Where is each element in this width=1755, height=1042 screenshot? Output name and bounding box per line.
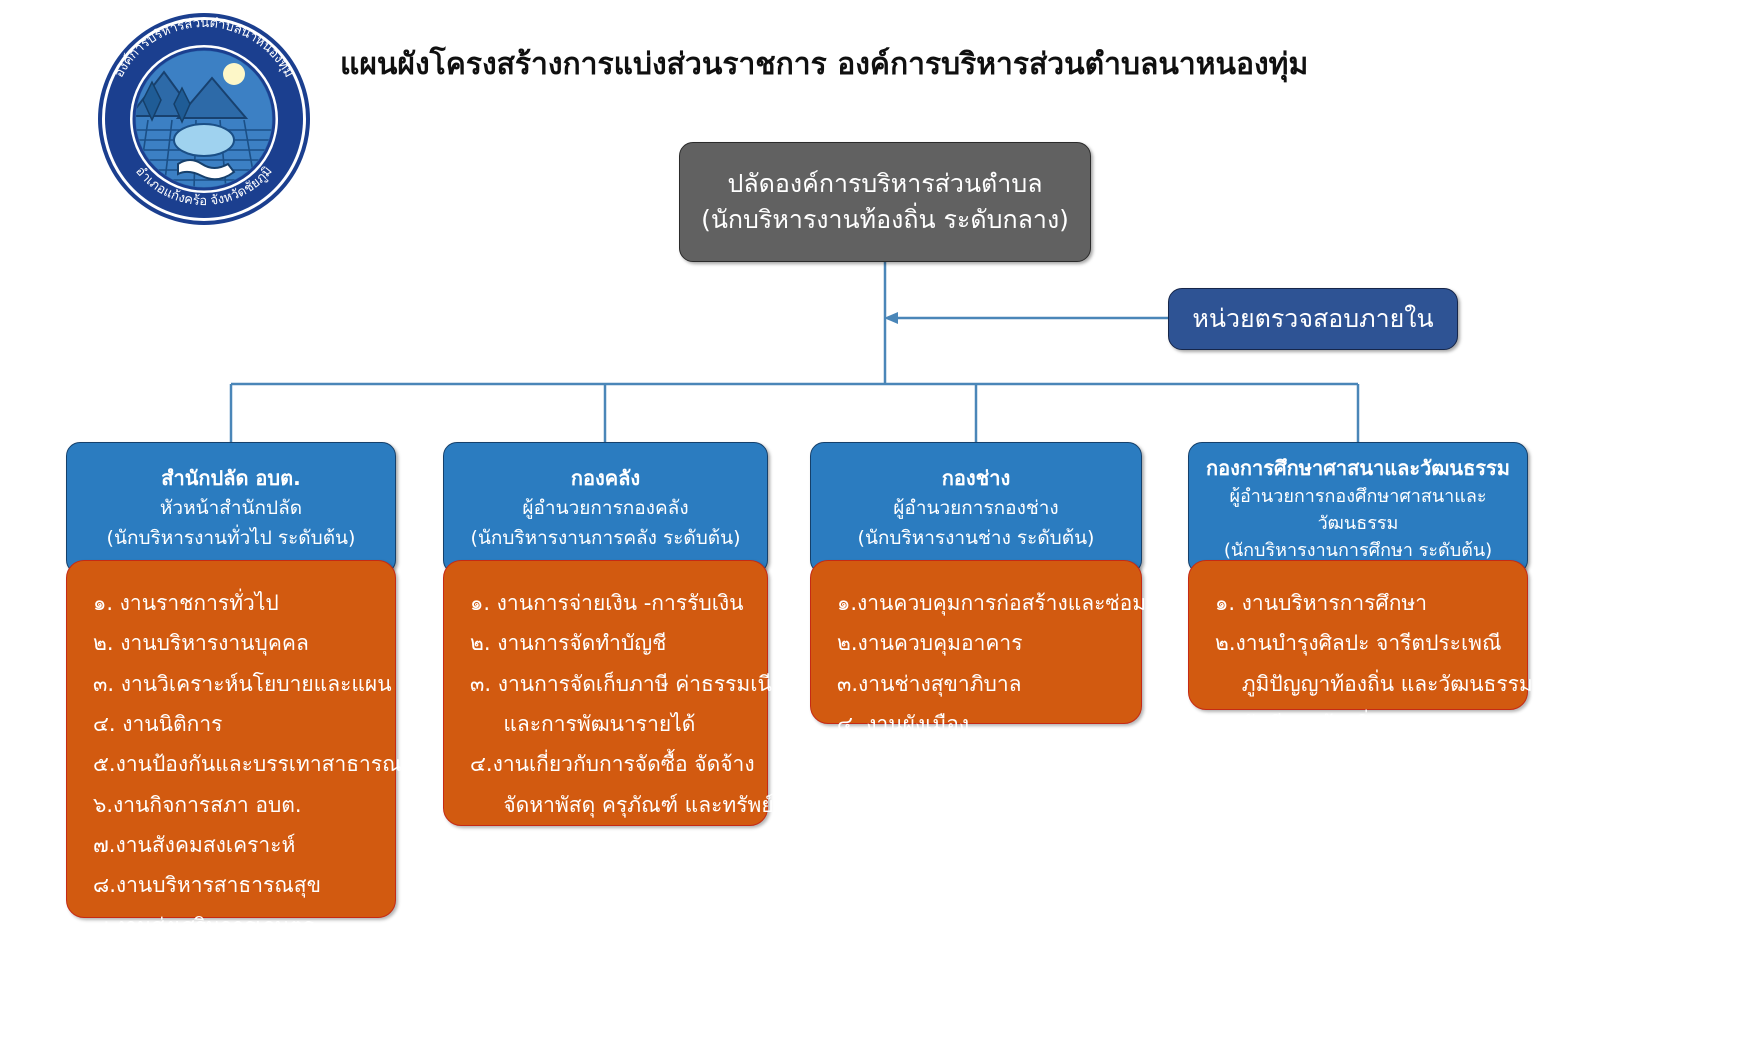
task-item: ๕.งานป้องกันและบรรเทาสาธารณภัย	[93, 744, 379, 784]
task-item: อันดีของท้องถิ่น	[1215, 704, 1511, 744]
department-name: กองช่าง	[819, 463, 1133, 494]
task-item: ๔. งานผังเมือง	[837, 704, 1125, 744]
task-item: ๓.งานช่างสุขาภิบาล	[837, 664, 1125, 704]
task-item: ต่างๆ	[470, 825, 751, 865]
task-item: ๑๐.งานวิชาการปศุสัตว์	[93, 946, 379, 986]
task-item: ๘.งานบริหารสาธารณสุข	[93, 865, 379, 905]
task-item: ภูมิปัญญาท้องถิ่น และวัฒนธรรม	[1215, 664, 1511, 704]
task-list-public-works[interactable]: ๑.งานควบคุมการก่อสร้างและซ่อมบำรุง๒.งานค…	[810, 560, 1142, 724]
task-item: ๑. งานการจ่ายเงิน -การรับเงิน	[470, 583, 751, 623]
box-department-finance[interactable]: กองคลัง ผู้อำนวยการกองคลัง (นักบริหารงาน…	[443, 442, 768, 574]
task-item: จัดหาพัสดุ ครุภัณฑ์ และทรัพย์สิน	[470, 785, 751, 825]
task-item: ๑.งานควบคุมการก่อสร้างและซ่อมบำรุง	[837, 583, 1125, 623]
box-department-education[interactable]: กองการศึกษาศาสนาและวัฒนธรรม ผู้อำนวยการก…	[1188, 442, 1528, 574]
task-item: ๑. งานบริหารการศึกษา	[1215, 583, 1511, 623]
chief-administrator-title: ปลัดองค์การบริหารส่วนตำบล	[680, 166, 1090, 202]
task-item: ๒. งานการจัดทำบัญชี	[470, 623, 751, 663]
department-head: ผู้อำนวยการกองช่าง	[819, 494, 1133, 523]
task-item: ๑. งานราชการทั่วไป	[93, 583, 379, 623]
task-item: ๓. งานวิเคราะห์นโยบายและแผน	[93, 664, 379, 704]
task-item: และการพัฒนารายได้	[470, 704, 751, 744]
org-chart-canvas: องค์การบริหารส่วนตำบลนาหนองทุ่ม อำเภอแก้…	[0, 0, 1755, 1042]
box-chief-administrator[interactable]: ปลัดองค์การบริหารส่วนตำบล (นักบริหารงานท…	[679, 142, 1091, 262]
task-item: ๖.งานกิจการสภา อบต.	[93, 785, 379, 825]
department-head: ผู้อำนวยการกองศึกษาศาสนาและวัฒนธรรม	[1197, 483, 1519, 537]
task-item: ๒. งานบริหารงานบุคคล	[93, 623, 379, 663]
task-item: ๒.งานควบคุมอาคาร	[837, 623, 1125, 663]
department-rank: (นักบริหารงานช่าง ระดับต้น)	[819, 524, 1133, 553]
department-name: สำนักปลัด อบต.	[75, 463, 387, 494]
task-item: ๙.งานส่งเสริมการเกษตร	[93, 906, 379, 946]
task-list-finance[interactable]: ๑. งานการจ่ายเงิน -การรับเงิน๒. งานการจั…	[443, 560, 768, 826]
box-department-public-works[interactable]: กองช่าง ผู้อำนวยการกองช่าง (นักบริหารงาน…	[810, 442, 1142, 574]
internal-audit-label: หน่วยตรวจสอบภายใน	[1169, 299, 1457, 339]
task-list-office-of-clerk[interactable]: ๑. งานราชการทั่วไป๒. งานบริหารงานบุคคล๓.…	[66, 560, 396, 918]
box-internal-audit-unit[interactable]: หน่วยตรวจสอบภายใน	[1168, 288, 1458, 350]
department-name: กองการศึกษาศาสนาและวัฒนธรรม	[1197, 453, 1519, 483]
task-item: ๗.งานสังคมสงเคราะห์	[93, 825, 379, 865]
arrow-head	[884, 312, 898, 324]
department-rank: (นักบริหารงานทั่วไป ระดับต้น)	[75, 524, 387, 553]
organization-seal-logo: องค์การบริหารส่วนตำบลนาหนองทุ่ม อำเภอแก้…	[86, 8, 322, 230]
department-rank: (นักบริหารงานการคลัง ระดับต้น)	[452, 524, 759, 553]
page-title: แผนผังโครงสร้างการแบ่งส่วนราชการ องค์การ…	[340, 45, 1340, 84]
chief-administrator-rank: (นักบริหารงานท้องถิ่น ระดับกลาง)	[680, 202, 1090, 238]
task-item: ๒.งานบำรุงศิลปะ จารีตประเพณี	[1215, 623, 1511, 663]
department-head: ผู้อำนวยการกองคลัง	[452, 494, 759, 523]
box-department-office-of-clerk[interactable]: สำนักปลัด อบต. หัวหน้าสำนักปลัด (นักบริห…	[66, 442, 396, 574]
task-list-education[interactable]: ๑. งานบริหารการศึกษา๒.งานบำรุงศิลปะ จารี…	[1188, 560, 1528, 710]
task-item: ๔.งานเกี่ยวกับการจัดซื้อ จัดจ้าง	[470, 744, 751, 784]
department-name: กองคลัง	[452, 463, 759, 494]
task-item: ๓. งานการจัดเก็บภาษี ค่าธรรมเนียม	[470, 664, 751, 704]
task-item: ๔. งานนิติการ	[93, 704, 379, 744]
department-head: หัวหน้าสำนักปลัด	[75, 494, 387, 523]
